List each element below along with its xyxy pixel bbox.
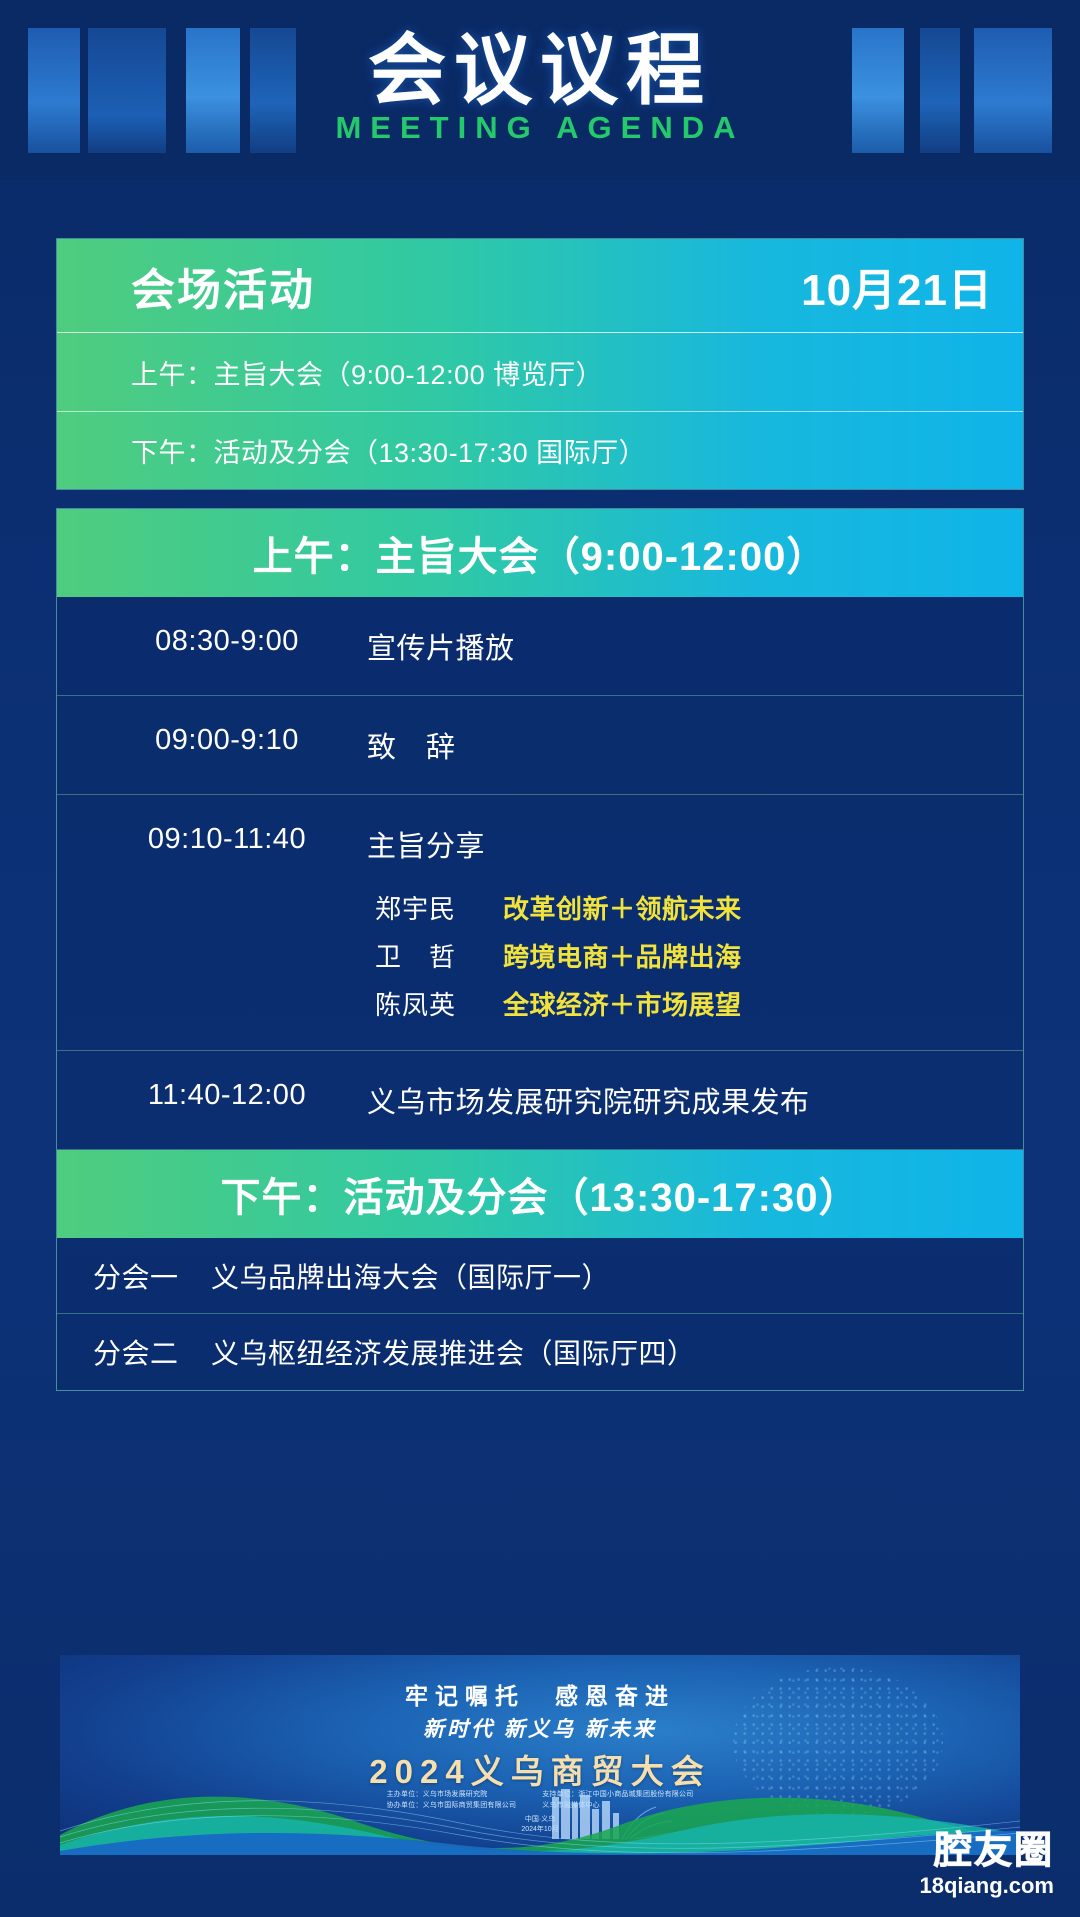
table-row: 08:30-9:00 宣传片播放	[57, 597, 1023, 696]
list-item: 卫 哲 跨境电商＋品牌出海	[367, 937, 1003, 974]
speaker-topic: 跨境电商＋品牌出海	[503, 937, 742, 974]
poster-header: 会议议程 MEETING AGENDA	[0, 0, 1080, 180]
agenda-time: 09:10-11:40	[57, 823, 367, 856]
speaker-topic: 改革创新＋领航未来	[503, 889, 742, 926]
speaker-topic: 全球经济＋市场展望	[503, 985, 742, 1022]
venue-card-title: 会场活动	[131, 254, 315, 318]
banner-inner: 牢记嘱托 感恩奋进 新时代 新义乌 新未来 2024义乌商贸大会 主办单位：义乌…	[60, 1655, 1020, 1855]
agenda-poster: 会议议程 MEETING AGENDA 会场活动 10月21日 上午：主旨大会（…	[0, 0, 1080, 1917]
watermark-cn: 腔友圈	[920, 1829, 1054, 1873]
agenda-title: 主旨分享	[367, 823, 1003, 865]
agenda-time: 08:30-9:00	[57, 625, 367, 658]
wave-decoration	[60, 1765, 1020, 1855]
subsession-label: 分会一	[93, 1256, 211, 1296]
page-title-en: MEETING AGENDA	[0, 110, 1080, 146]
list-item: 郑宇民 改革创新＋领航未来	[367, 889, 1003, 926]
watermark-en: 18qiang.com	[920, 1873, 1054, 1899]
agenda-card: 上午：主旨大会（9:00-12:00） 08:30-9:00 宣传片播放 09:…	[56, 508, 1024, 1391]
banner-slogan-secondary: 新时代 新义乌 新未来	[60, 1713, 1020, 1743]
page-title: 会议议程 MEETING AGENDA	[0, 26, 1080, 146]
section-header-afternoon: 下午：活动及分会（13:30-17:30）	[57, 1150, 1023, 1238]
agenda-body: 致 辞	[367, 724, 1003, 766]
page-title-cn: 会议议程	[0, 26, 1080, 114]
section-header-morning: 上午：主旨大会（9:00-12:00）	[57, 509, 1023, 597]
agenda-time: 11:40-12:00	[57, 1079, 367, 1112]
venue-card-header: 会场活动 10月21日	[57, 239, 1023, 333]
venue-activity-card: 会场活动 10月21日 上午：主旨大会（9:00-12:00 博览厅） 下午：活…	[56, 238, 1024, 490]
speaker-name: 陈凤英	[375, 985, 503, 1022]
table-row: 分会二 义乌枢纽经济发展推进会（国际厅四）	[57, 1314, 1023, 1390]
table-row: 11:40-12:00 义乌市场发展研究院研究成果发布	[57, 1051, 1023, 1150]
table-row: 09:10-11:40 主旨分享 郑宇民 改革创新＋领航未来 卫 哲 跨境电商＋…	[57, 795, 1023, 1051]
venue-row-afternoon: 下午：活动及分会（13:30-17:30 国际厅）	[57, 411, 1023, 489]
banner-slogan-primary: 牢记嘱托 感恩奋进	[60, 1677, 1020, 1711]
watermark: 腔友圈 18qiang.com	[920, 1829, 1054, 1899]
subsession-text: 义乌枢纽经济发展推进会（国际厅四）	[211, 1332, 1023, 1372]
subsession-text: 义乌品牌出海大会（国际厅一）	[211, 1256, 1023, 1296]
agenda-title: 宣传片播放	[367, 625, 1003, 667]
venue-row-morning: 上午：主旨大会（9:00-12:00 博览厅）	[57, 333, 1023, 411]
speaker-list: 郑宇民 改革创新＋领航未来 卫 哲 跨境电商＋品牌出海 陈凤英 全球经济＋市场展…	[367, 889, 1003, 1022]
table-row: 09:00-9:10 致 辞	[57, 696, 1023, 795]
agenda-body: 宣传片播放	[367, 625, 1003, 667]
table-row: 分会一 义乌品牌出海大会（国际厅一）	[57, 1238, 1023, 1314]
agenda-time: 09:00-9:10	[57, 724, 367, 757]
event-banner-image: 牢记嘱托 感恩奋进 新时代 新义乌 新未来 2024义乌商贸大会 主办单位：义乌…	[60, 1655, 1020, 1855]
venue-card-date: 10月21日	[801, 254, 993, 318]
speaker-name: 郑宇民	[375, 889, 503, 926]
subsession-label: 分会二	[93, 1332, 211, 1372]
speaker-name: 卫 哲	[375, 937, 503, 974]
list-item: 陈凤英 全球经济＋市场展望	[367, 985, 1003, 1022]
agenda-body: 义乌市场发展研究院研究成果发布	[367, 1079, 1003, 1121]
agenda-title: 义乌市场发展研究院研究成果发布	[367, 1079, 1003, 1121]
agenda-body: 主旨分享 郑宇民 改革创新＋领航未来 卫 哲 跨境电商＋品牌出海 陈凤英 全球经…	[367, 823, 1003, 1022]
agenda-title: 致 辞	[367, 724, 1003, 766]
